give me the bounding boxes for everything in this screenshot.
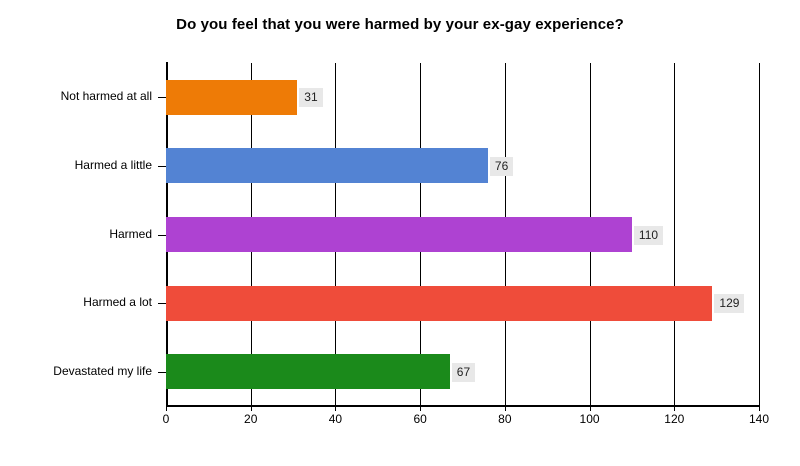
x-axis-tick-label: 0 (136, 412, 196, 426)
y-axis-category-label: Devastated my life (0, 364, 152, 378)
x-axis-tick-label: 140 (729, 412, 789, 426)
y-axis-category-label: Not harmed at all (0, 89, 152, 103)
x-axis-tick-label: 80 (475, 412, 535, 426)
bar (166, 217, 632, 252)
gridline (674, 63, 675, 406)
bar-value-label: 110 (634, 226, 663, 245)
y-axis-category-label: Harmed a lot (0, 295, 152, 309)
x-axis-tick (590, 406, 591, 411)
x-axis-tick (166, 406, 167, 411)
bar-value-label: 31 (299, 88, 322, 107)
bar (166, 354, 450, 389)
x-axis-tick-label: 120 (644, 412, 704, 426)
bar (166, 286, 712, 321)
bar-chart: Do you feel that you were harmed by your… (0, 0, 800, 466)
x-axis-tick (420, 406, 421, 411)
x-axis-tick (759, 406, 760, 411)
bar-value-label: 129 (714, 294, 744, 313)
gridline (759, 63, 760, 406)
x-axis-tick (251, 406, 252, 411)
x-axis-tick (335, 406, 336, 411)
x-axis-tick-label: 20 (221, 412, 281, 426)
x-axis-tick-label: 60 (390, 412, 450, 426)
bar-value-label: 76 (490, 157, 513, 176)
x-axis-tick (505, 406, 506, 411)
x-axis-line (166, 405, 760, 407)
x-axis-tick (674, 406, 675, 411)
bar-value-label: 67 (452, 363, 475, 382)
bar (166, 148, 488, 183)
bar (166, 80, 297, 115)
x-axis-tick-label: 100 (560, 412, 620, 426)
chart-title: Do you feel that you were harmed by your… (0, 16, 800, 33)
x-axis-tick-label: 40 (305, 412, 365, 426)
y-axis-category-label: Harmed a little (0, 158, 152, 172)
y-axis-category-label: Harmed (0, 227, 152, 241)
